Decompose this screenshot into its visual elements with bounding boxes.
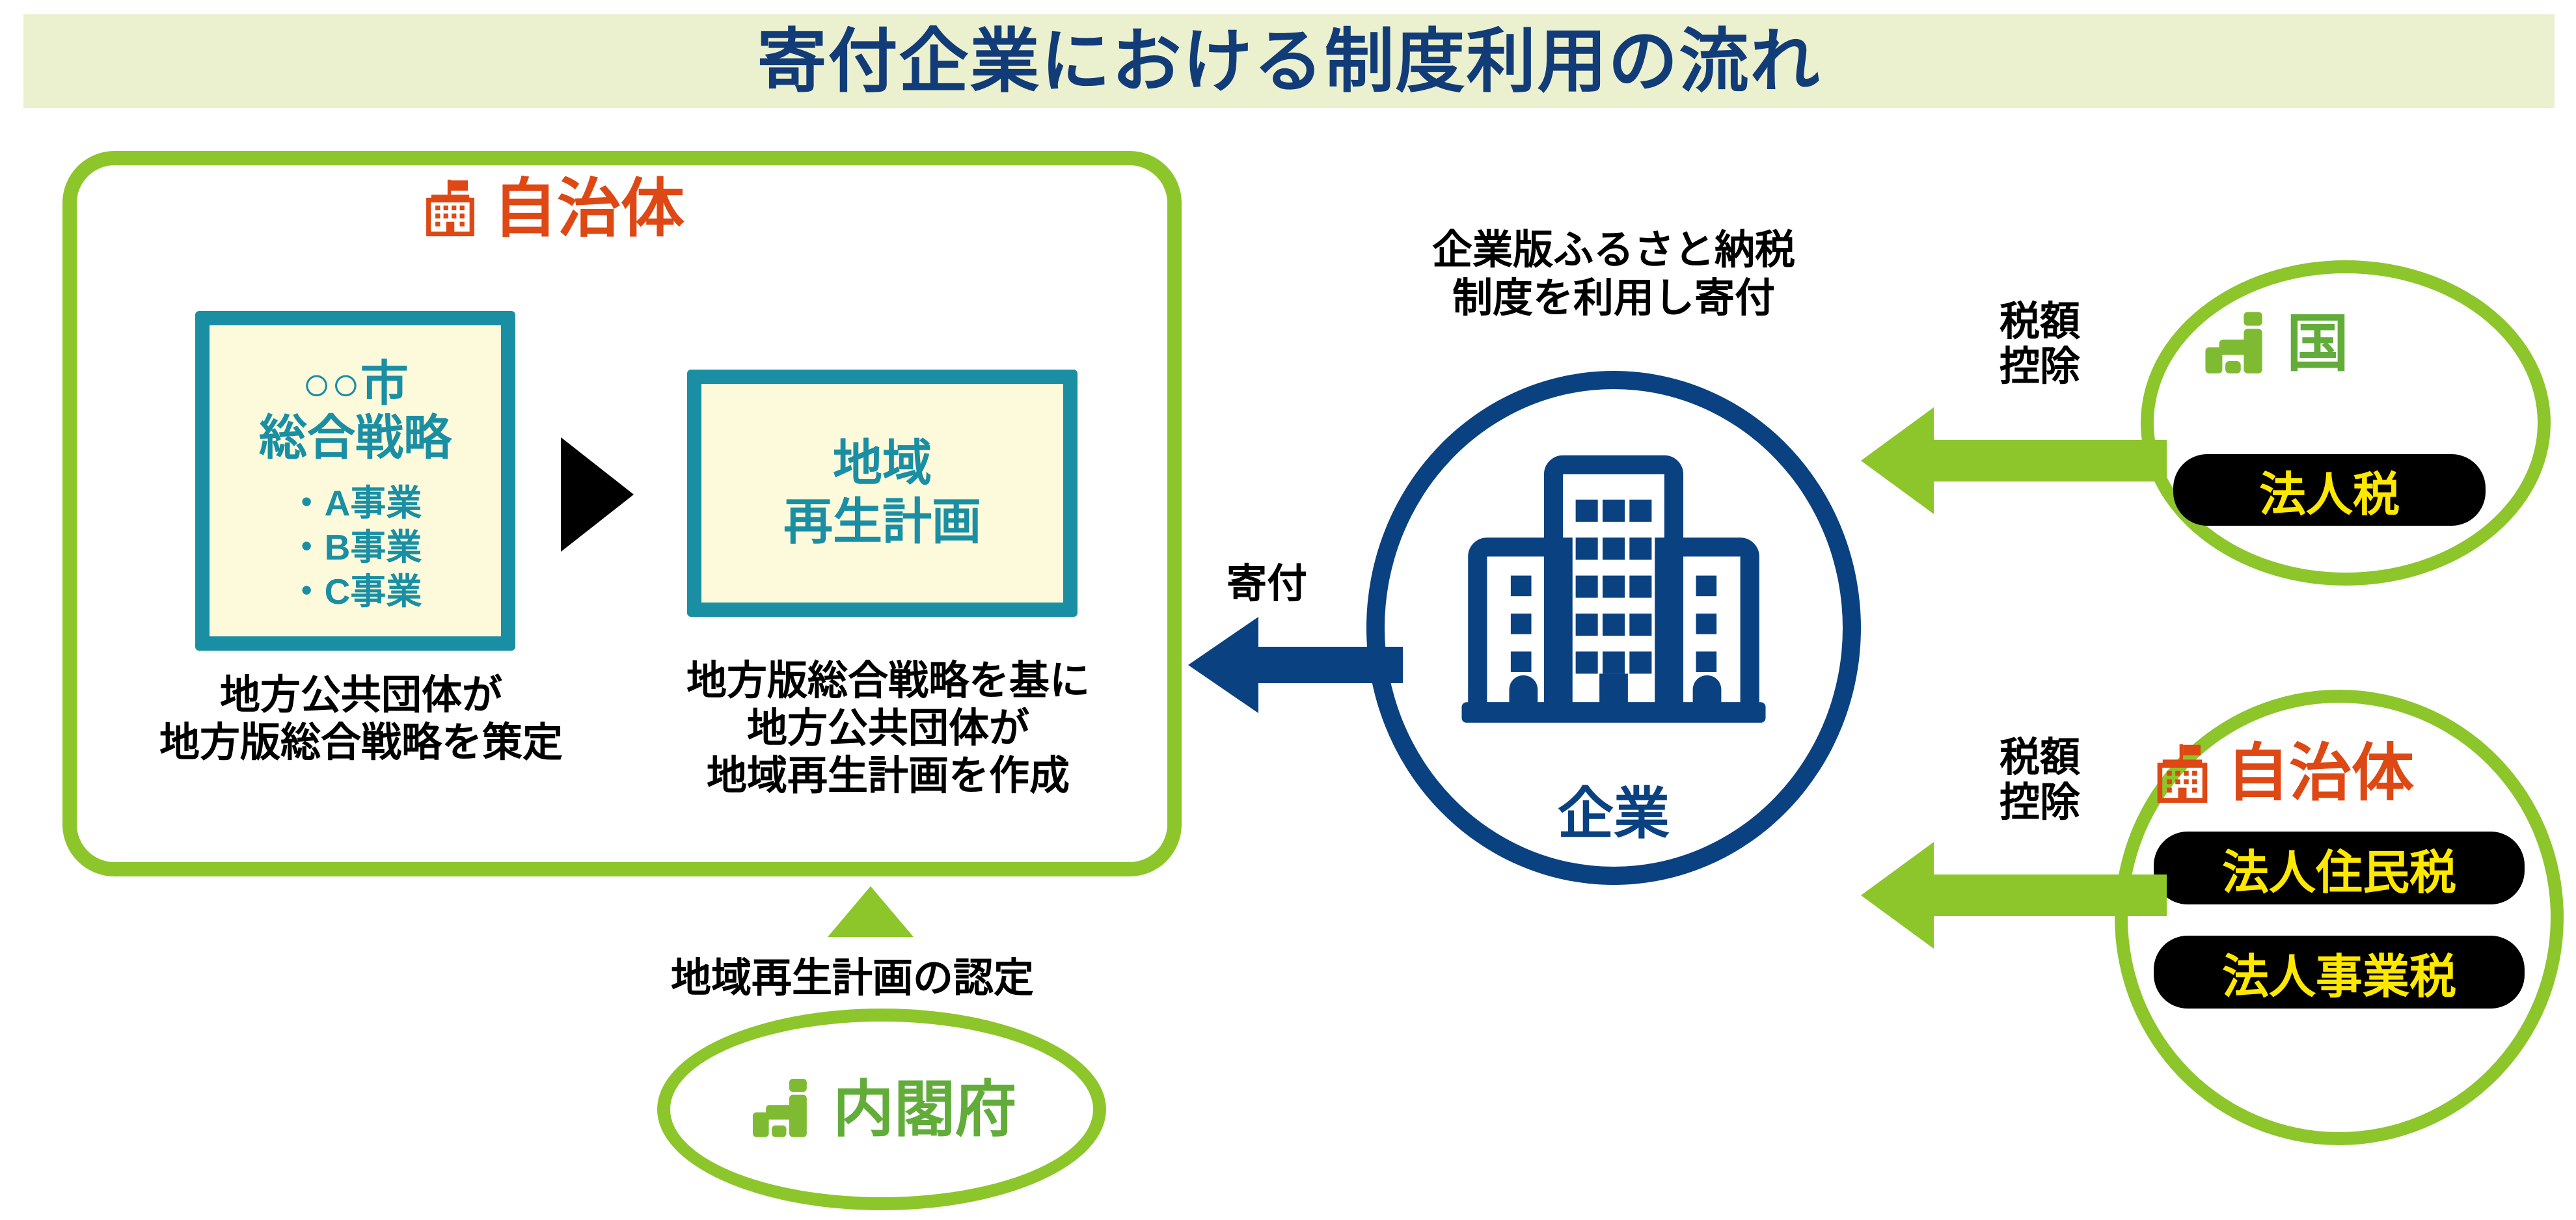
strategy-title-line2: 総合戦略 (259, 411, 452, 465)
triangle-up-icon (828, 886, 914, 937)
bar-chart-icon (2199, 306, 2276, 383)
arrow-left-icon (1861, 403, 2167, 517)
nation-arrow-label-line1: 税額 (1965, 299, 2115, 344)
strategy-box-title: ○○市 総合戦略 (259, 357, 452, 465)
arrow-left-icon (1188, 613, 1403, 717)
cabinet-approval-label: 地域再生計画の認定 (605, 945, 1100, 1003)
municipality-panel-header: 自治体 (416, 174, 685, 242)
nation-arrow-label-line2: 控除 (1965, 344, 2115, 389)
local-arrow-label-line2: 控除 (1965, 780, 2115, 825)
nation-tax-label: 法人税 (2259, 456, 2400, 524)
city-hall-icon (2147, 739, 2217, 809)
strategy-caption-line1: 地方公共団体が (150, 671, 573, 719)
nation-label: 国 (2286, 313, 2349, 375)
arrow-left-icon (1861, 838, 2167, 952)
local-government-label: 自治体 (2227, 742, 2414, 805)
company-note-line1: 企業版ふるさと納税 (1353, 226, 1874, 275)
plan-box-caption: 地方版総合戦略を基に 地方公共団体が 地域再生計画を作成 (631, 657, 1145, 800)
plan-caption-line2: 地方公共団体が (631, 705, 1145, 752)
plan-box-title: 地域 再生計画 (783, 435, 981, 551)
comprehensive-strategy-box: ○○市 総合戦略 ・A事業 ・B事業 ・C事業 (195, 311, 515, 651)
cabinet-office-label: 内閣府 (833, 1079, 1016, 1140)
bar-chart-icon (747, 1073, 820, 1146)
regional-revitalization-plan-box: 地域 再生計画 (687, 370, 1078, 617)
status-badge: 法人住民税 (2154, 832, 2525, 904)
plan-title-line2: 再生計画 (783, 493, 981, 552)
plan-title-line1: 地域 (783, 435, 981, 493)
local-government-header: 自治体 (2147, 739, 2414, 809)
status-badge: 法人事業税 (2154, 936, 2525, 1009)
cabinet-office-node: 内閣府 (657, 1009, 1106, 1210)
infographic-canvas: 寄付企業における制度利用の流れ (0, 0, 2576, 1220)
strategy-title-line1: ○○市 (259, 357, 452, 411)
strategy-box-caption: 地方公共団体が 地方版総合戦略を策定 (150, 671, 573, 766)
strategy-caption-line2: 地方版総合戦略を策定 (150, 719, 573, 766)
list-item: ・B事業 (289, 525, 422, 569)
local-tax-credit-label: 税額 控除 (1965, 735, 2115, 826)
nation-tax-credit-label: 税額 控除 (1965, 299, 2115, 390)
local-tax-label-2: 法人事業税 (2222, 938, 2456, 1007)
strategy-project-list: ・A事業 ・B事業 ・C事業 (289, 481, 422, 614)
company-note-line2: 制度を利用し寄付 (1353, 275, 1874, 323)
list-item: ・A事業 (289, 481, 422, 525)
page-title: 寄付企業における制度利用の流れ (757, 27, 1821, 96)
local-arrow-label-line1: 税額 (1965, 735, 2115, 780)
company-donation-note: 企業版ふるさと納税 制度を利用し寄付 (1353, 226, 1874, 323)
triangle-right-icon (561, 437, 634, 552)
plan-caption-line1: 地方版総合戦略を基に (631, 657, 1145, 705)
company-label: 企業 (1366, 768, 1861, 849)
municipality-panel-label: 自治体 (493, 176, 685, 240)
nation-header: 国 (2199, 306, 2349, 383)
local-tax-label-1: 法人住民税 (2222, 834, 2456, 902)
list-item: ・C事業 (289, 569, 422, 614)
title-banner: 寄付企業における制度利用の流れ (23, 14, 2555, 108)
city-hall-icon (416, 174, 484, 242)
office-building-icon (1454, 449, 1773, 742)
status-badge: 法人税 (2173, 454, 2486, 526)
donation-arrow-label: 寄付 (1227, 550, 1307, 609)
plan-caption-line3: 地域再生計画を作成 (631, 752, 1145, 800)
